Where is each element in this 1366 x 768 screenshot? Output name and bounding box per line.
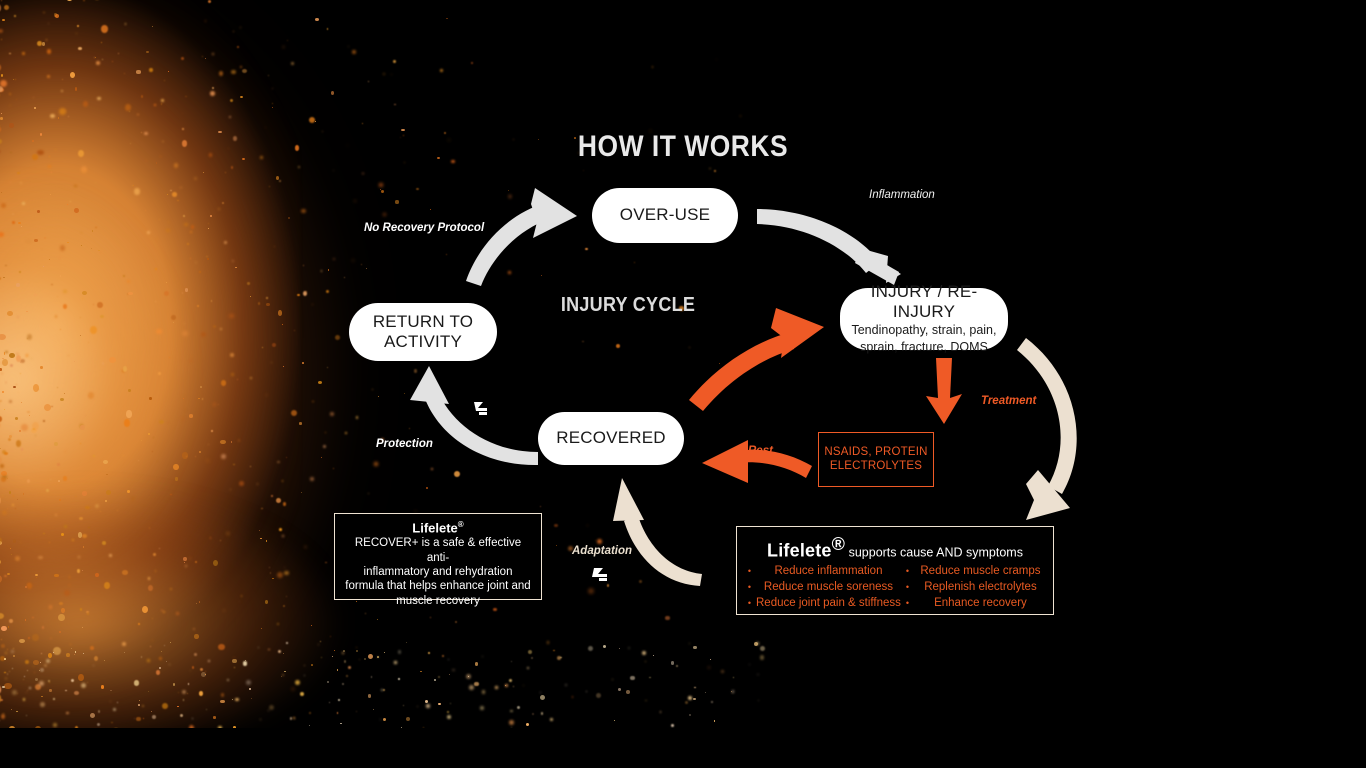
arrow-treatment-to-lifelete [1017,338,1077,520]
support-bullet-right-label: Enhance recovery [914,596,1047,612]
label-no-recovery-protocol: No Recovery Protocol [364,222,484,234]
label-protection: Protection [376,438,433,450]
support-bullets-left: •Reduce inflammation•Reduce muscle soren… [743,564,901,612]
box-lifelete-supports[interactable]: Lifelete® supports cause AND symptoms •R… [736,526,1054,615]
arrow-protection [410,366,538,465]
registered-mark: ® [832,534,845,554]
support-bullet-right-label: Reduce muscle cramps [914,564,1047,580]
bullet-dot-icon: • [901,596,914,610]
bullet-dot-icon: • [901,580,914,594]
bullet-dot-icon: • [743,580,756,594]
flow-arrows-layer [0,0,1366,768]
label-treatment: Treatment [981,395,1036,407]
node-injury-sub-line2: sprain, fracture, DOMS [860,340,988,356]
arrow-inflammation [757,209,901,285]
page-title: HOW IT WORKS [82,130,1284,164]
node-injury-sub-line1: Tendinopathy, strain, pain, [851,323,996,339]
box-nsaids-protein-electrolytes[interactable]: NSAIDS, PROTEIN ELECTROLYTES [818,432,934,487]
arrow-no-recovery-protocol [466,188,577,286]
recover-body-line1: RECOVER+ is a safe & effective anti- [343,536,533,565]
arrow-treatment [926,358,962,424]
support-bullet-left-item: •Reduce muscle soreness [743,580,901,596]
arrow-recovered-to-injury [689,308,824,411]
registered-mark: ® [458,520,464,529]
support-bullet-right-label: Replenish electrolytes [914,580,1047,596]
support-bullet-left-label: Reduce inflammation [756,564,901,580]
support-box-headline: Lifelete® supports cause AND symptoms [743,534,1047,561]
node-return-line2: ACTIVITY [384,332,462,352]
label-rest: Rest [748,445,773,457]
node-return-line1: RETURN TO [373,312,473,332]
node-recovered[interactable]: RECOVERED [538,412,684,465]
support-bullet-left-item: •Reduce inflammation [743,564,901,580]
label-adaptation: Adaptation [572,545,632,557]
support-bullet-right-item: •Reduce muscle cramps [901,564,1047,580]
nsaids-line1: NSAIDS, PROTEIN [824,446,927,459]
support-bullet-left-item: •Reduce joint pain & stiffness [743,596,901,612]
recover-body-line3: formula that helps enhance joint and [343,579,533,593]
support-bullet-left-label: Reduce muscle soreness [756,580,901,596]
small-arrow-glyph-adaptation [592,568,607,581]
support-box-headline-rest: supports cause AND symptoms [845,545,1023,559]
support-box-brand: Lifelete [767,540,832,560]
node-over-use-label: OVER-USE [620,205,710,225]
box-lifelete-recover-plus[interactable]: Lifelete® RECOVER+ is a safe & effective… [334,513,542,600]
bullet-dot-icon: • [743,564,756,578]
support-bullet-right-item: •Replenish electrolytes [901,580,1047,596]
recover-box-brand: Lifelete® [343,520,533,535]
arrow-adaptation [613,478,702,586]
label-inflammation: Inflammation [869,189,935,201]
small-arrow-glyph-protection [474,402,487,415]
recover-body-line4: muscle recovery [343,594,533,608]
support-bullet-right-item: •Enhance recovery [901,596,1047,612]
support-bullet-left-label: Reduce joint pain & stiffness [756,596,901,612]
node-injury-reinjury[interactable]: INJURY / RE-INJURY Tendinopathy, strain,… [840,288,1008,350]
node-recovered-label: RECOVERED [556,428,666,448]
support-bullets-right: •Reduce muscle cramps•Replenish electrol… [901,564,1047,612]
bullet-dot-icon: • [901,564,914,578]
injury-cycle-label: INJURY CYCLE [561,294,696,317]
infographic-canvas: HOW IT WORKS INJURY CYCLE OVER-USE RETUR… [0,0,1366,768]
nsaids-line2: ELECTROLYTES [824,460,927,473]
node-injury-label: INJURY / RE-INJURY [840,282,1008,322]
node-return-to-activity[interactable]: RETURN TO ACTIVITY [349,303,497,361]
bullet-dot-icon: • [743,596,756,610]
node-over-use[interactable]: OVER-USE [592,188,738,243]
recover-body-line2: inflammatory and rehydration [343,565,533,579]
